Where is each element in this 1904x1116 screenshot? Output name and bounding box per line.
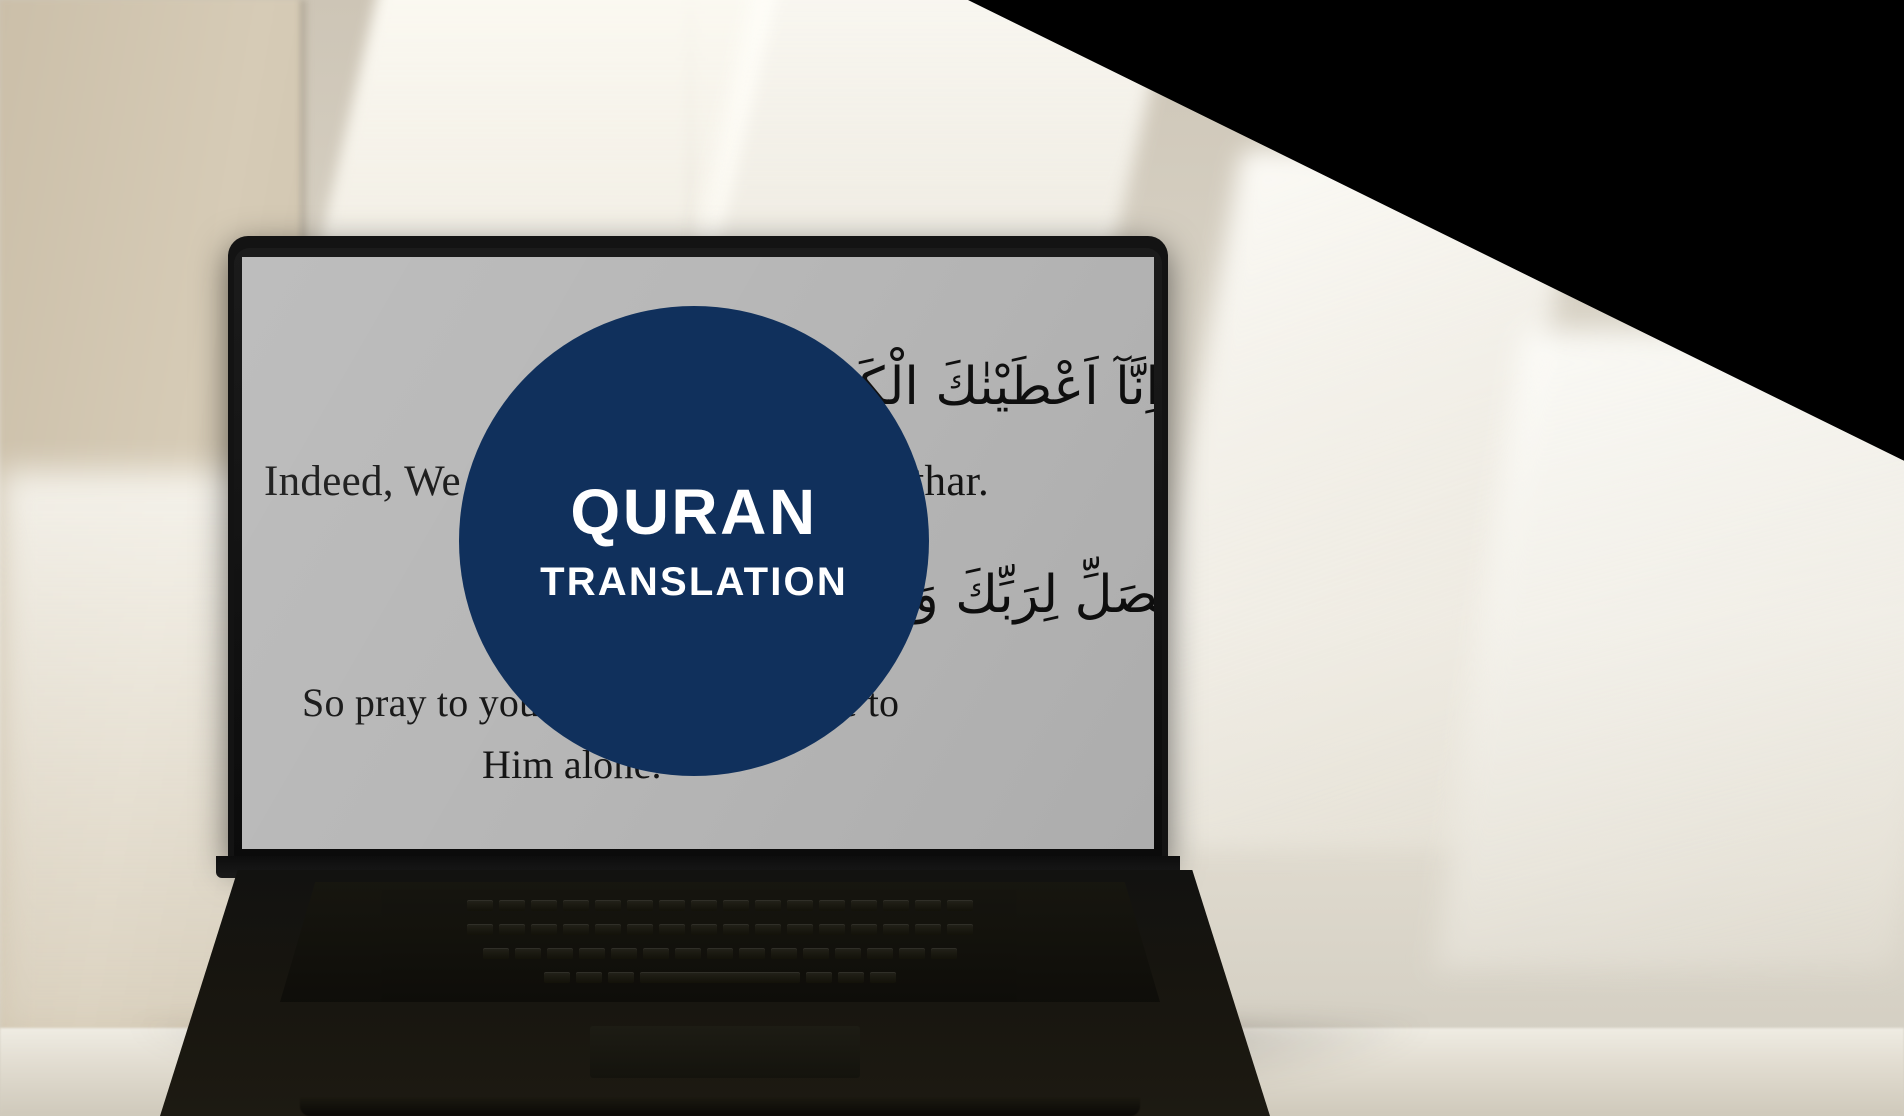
badge-subtitle: TRANSLATION — [540, 562, 848, 602]
laptop-trackpad — [590, 1026, 860, 1078]
quran-translation-badge: QURAN TRANSLATION — [459, 306, 929, 776]
laptop-front-edge — [300, 1098, 1140, 1116]
laptop-keyboard — [280, 882, 1160, 1002]
badge-title: QURAN — [570, 480, 817, 544]
screenshot-stage: اِنَّآ اَعْطَيْنٰكَ الْكَوْثَرَ Indeed, … — [0, 0, 1904, 1116]
